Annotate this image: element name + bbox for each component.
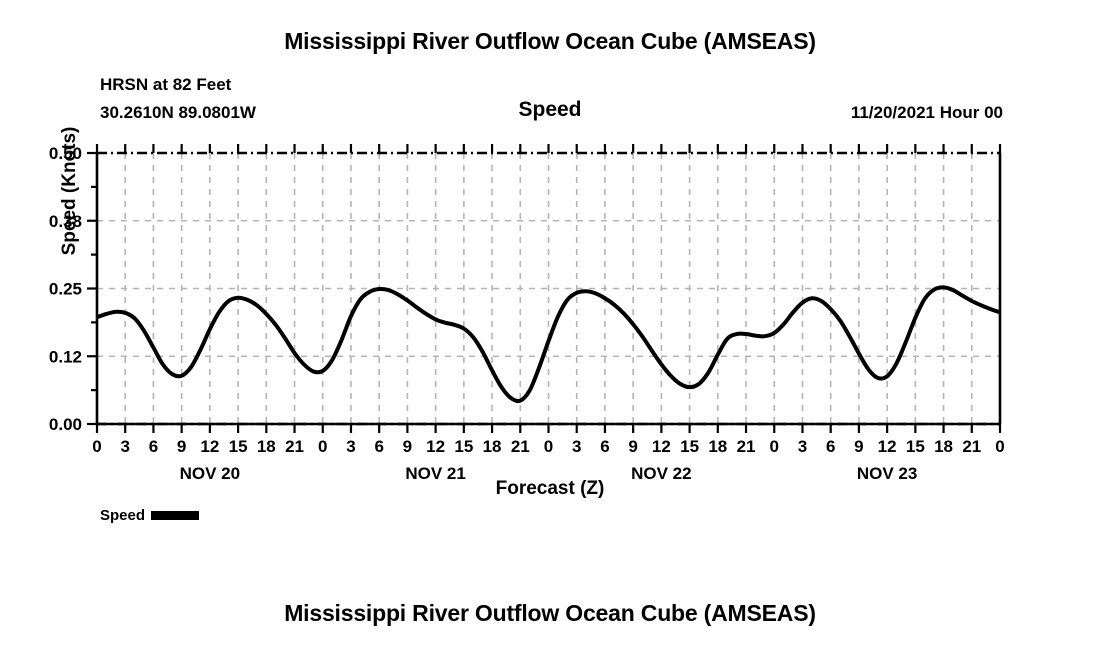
y-tick-label: 0.00: [49, 415, 82, 434]
y-tick-label: 0.12: [49, 347, 82, 366]
x-tick-label: 15: [454, 437, 473, 456]
x-tick-label: 21: [511, 437, 530, 456]
x-tick-label: 18: [708, 437, 727, 456]
speed-line-chart: 0.000.120.250.380.5003691215182103691215…: [0, 0, 1100, 500]
x-tick-label: 18: [483, 437, 502, 456]
x-tick-label: 6: [374, 437, 383, 456]
x-tick-label: 9: [854, 437, 863, 456]
x-tick-label: 9: [403, 437, 412, 456]
x-tick-label: 15: [229, 437, 248, 456]
x-tick-label: 21: [962, 437, 981, 456]
x-tick-label: 9: [628, 437, 637, 456]
footer-title: Mississippi River Outflow Ocean Cube (AM…: [0, 600, 1100, 627]
y-tick-label: 0.25: [49, 280, 82, 299]
chart-legend: Speed: [100, 507, 199, 524]
day-label: NOV 21: [405, 464, 465, 483]
legend-swatch-speed: [151, 511, 199, 520]
x-tick-label: 9: [177, 437, 186, 456]
x-tick-label: 15: [680, 437, 699, 456]
x-tick-label: 6: [826, 437, 835, 456]
day-label: NOV 22: [631, 464, 691, 483]
x-tick-label: 0: [318, 437, 327, 456]
x-tick-label: 12: [878, 437, 897, 456]
x-tick-label: 18: [257, 437, 276, 456]
x-tick-label: 3: [798, 437, 807, 456]
day-label: NOV 20: [180, 464, 240, 483]
x-tick-label: 0: [770, 437, 779, 456]
x-tick-label: 21: [285, 437, 304, 456]
x-tick-label: 18: [934, 437, 953, 456]
x-tick-label: 15: [906, 437, 925, 456]
x-tick-label: 0: [544, 437, 553, 456]
day-label: NOV 23: [857, 464, 917, 483]
y-tick-label: 0.38: [49, 212, 82, 231]
day-labels: NOV 20NOV 21NOV 22NOV 23: [180, 464, 918, 483]
x-tick-label: 3: [346, 437, 355, 456]
x-tick-label: 0: [995, 437, 1004, 456]
legend-label-speed: Speed: [100, 507, 145, 524]
x-tick-label: 0: [92, 437, 101, 456]
x-tick-label: 6: [149, 437, 158, 456]
grid-lines: [97, 153, 1000, 424]
x-tick-label: 3: [120, 437, 129, 456]
x-tick-label: 12: [652, 437, 671, 456]
x-tick-label: 6: [600, 437, 609, 456]
y-tick-labels: 0.000.120.250.380.50: [49, 144, 82, 434]
chart-page: Mississippi River Outflow Ocean Cube (AM…: [0, 0, 1100, 650]
x-tick-label: 21: [737, 437, 756, 456]
x-tick-label: 3: [572, 437, 581, 456]
y-tick-label: 0.50: [49, 144, 82, 163]
x-tick-labels: 0369121518210369121518210369121518210369…: [92, 437, 1004, 456]
x-tick-label: 12: [426, 437, 445, 456]
x-tick-label: 12: [200, 437, 219, 456]
